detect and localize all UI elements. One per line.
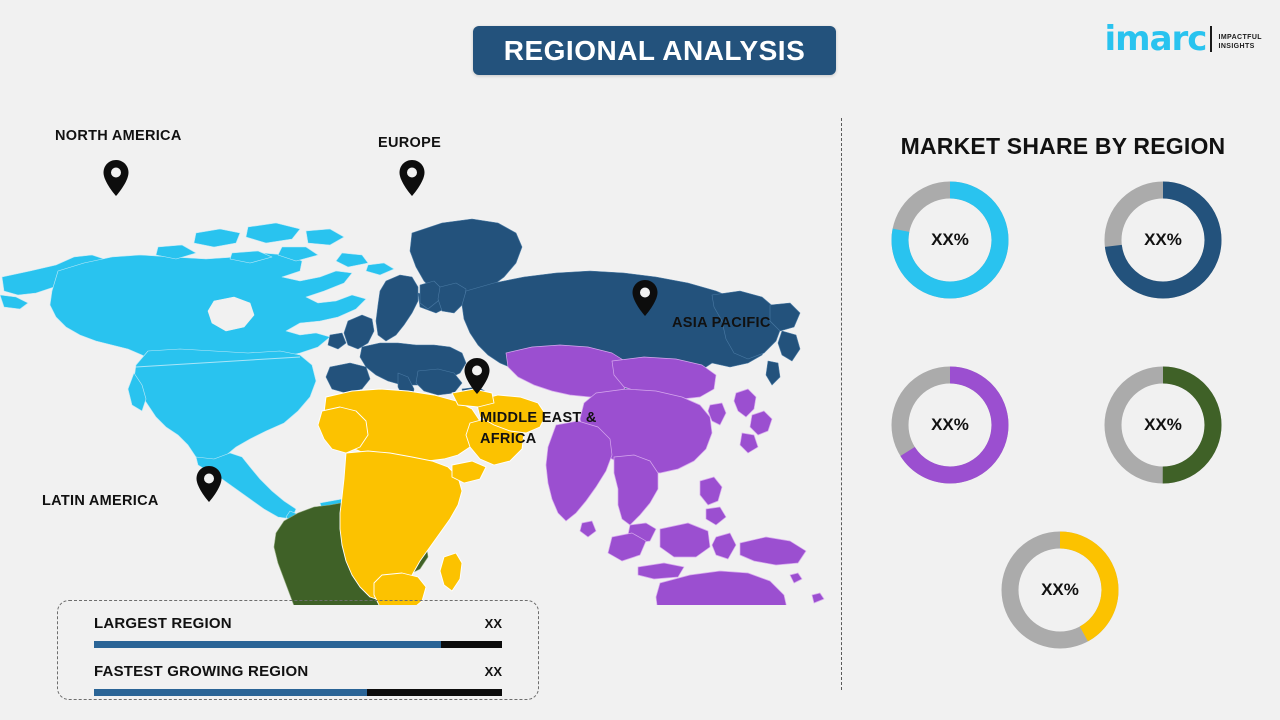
logo-divider (1210, 26, 1212, 52)
legend-row-fastest-growing-region: FASTEST GROWING REGION XX (94, 663, 502, 703)
legend-progress-fill (94, 641, 441, 648)
donut-middle-east-africa: XX% (1000, 530, 1120, 650)
map-pin-north-america[interactable] (103, 160, 129, 196)
donut-value-label: XX% (1000, 530, 1120, 650)
market-share-donuts: XX% XX% XX% XX% (855, 180, 1265, 680)
legend-label: FASTEST GROWING REGION (94, 663, 308, 680)
legend-row-largest-region: LARGEST REGION XX (94, 615, 502, 655)
donut-value-label: XX% (890, 180, 1010, 300)
map-label-middle-east-africa: MIDDLE EAST & AFRICA (480, 408, 597, 450)
region-summary-box: LARGEST REGION XX FASTEST GROWING REGION… (57, 600, 539, 700)
legend-progress-track (94, 641, 502, 648)
logo-tagline-line1: IMPACTFUL (1218, 33, 1262, 42)
logo-tagline-line2: INSIGHTS (1218, 42, 1262, 51)
logo-wordmark: imarc (1105, 24, 1207, 54)
map-label-latin-america: LATIN AMERICA (42, 491, 159, 512)
page-title-banner: REGIONAL ANALYSIS (473, 26, 836, 75)
legend-value: XX (485, 616, 502, 631)
map-region-asia-pacific (506, 345, 826, 605)
legend-value: XX (485, 664, 502, 679)
infographic-root: REGIONAL ANALYSIS imarc IMPACTFUL INSIGH… (0, 0, 1280, 720)
map-pin-asia-pacific[interactable] (632, 280, 658, 316)
donut-value-label: XX% (1103, 365, 1223, 485)
map-pin-latin-america[interactable] (196, 466, 222, 502)
map-label-north-america: NORTH AMERICA (55, 126, 182, 147)
page-title: REGIONAL ANALYSIS (504, 35, 806, 67)
market-share-title: MARKET SHARE BY REGION (888, 133, 1238, 160)
map-pin-middle-east-africa[interactable] (464, 358, 490, 394)
legend-label: LARGEST REGION (94, 615, 232, 632)
imarc-logo: imarc IMPACTFUL INSIGHTS (1105, 18, 1262, 54)
map-label-europe: EUROPE (378, 133, 441, 154)
map-pin-europe[interactable] (399, 160, 425, 196)
legend-progress-track (94, 689, 502, 696)
donut-value-label: XX% (890, 365, 1010, 485)
donut-asia-pacific: XX% (890, 365, 1010, 485)
logo-tagline: IMPACTFUL INSIGHTS (1218, 33, 1262, 51)
panel-divider (841, 118, 842, 690)
donut-latin-america: XX% (1103, 365, 1223, 485)
donut-value-label: XX% (1103, 180, 1223, 300)
map-label-asia-pacific: ASIA PACIFIC (672, 313, 771, 334)
donut-europe: XX% (1103, 180, 1223, 300)
legend-progress-fill (94, 689, 367, 696)
donut-north-america: XX% (890, 180, 1010, 300)
